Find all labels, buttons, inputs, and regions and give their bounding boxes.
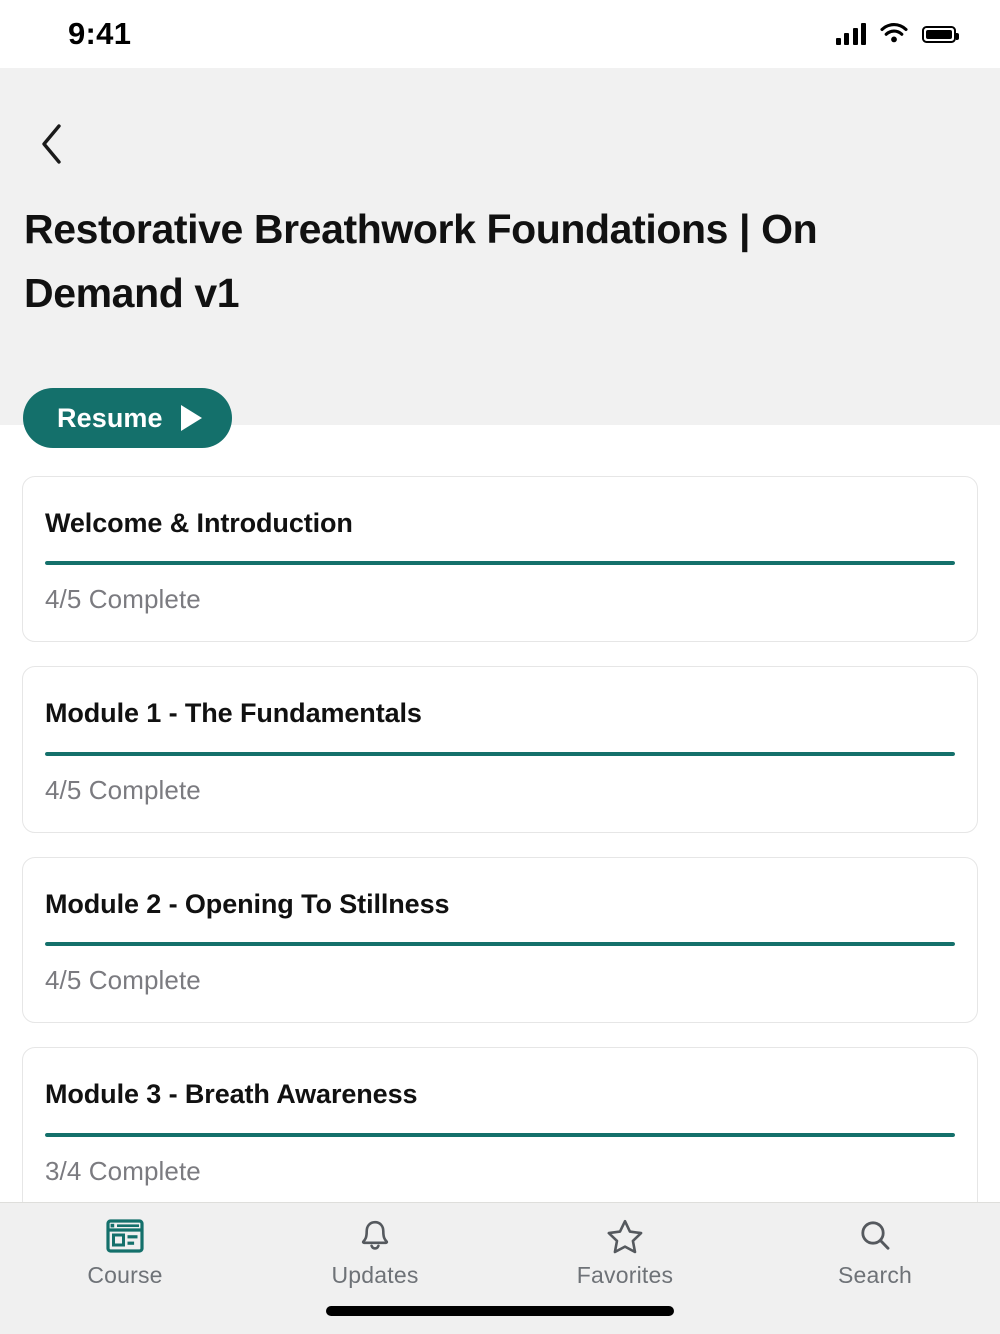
module-card[interactable]: Module 2 - Opening To Stillness 4/5 Comp… bbox=[22, 857, 978, 1023]
tab-favorites[interactable]: Favorites bbox=[500, 1203, 750, 1293]
module-title: Module 2 - Opening To Stillness bbox=[45, 888, 955, 920]
status-bar-clock: 9:41 bbox=[68, 16, 131, 52]
module-progress-fill bbox=[45, 1133, 955, 1137]
cellular-signal-icon bbox=[836, 23, 867, 45]
course-header: Restorative Breathwork Foundations | On … bbox=[0, 68, 1000, 425]
module-card[interactable]: Module 3 - Breath Awareness 3/4 Complete bbox=[22, 1047, 978, 1213]
back-button[interactable] bbox=[24, 116, 80, 172]
star-outline-icon bbox=[606, 1217, 644, 1255]
module-card[interactable]: Module 1 - The Fundamentals 4/5 Complete bbox=[22, 666, 978, 832]
bell-icon bbox=[357, 1217, 393, 1255]
module-title: Module 3 - Breath Awareness bbox=[45, 1078, 955, 1110]
module-title: Welcome & Introduction bbox=[45, 507, 955, 539]
play-triangle-icon bbox=[181, 405, 202, 431]
module-progress-bar bbox=[45, 942, 955, 946]
tab-course[interactable]: Course bbox=[0, 1203, 250, 1293]
status-bar-icons bbox=[836, 21, 957, 48]
module-progress-bar bbox=[45, 752, 955, 756]
status-bar: 9:41 bbox=[0, 0, 1000, 68]
tab-updates-label: Updates bbox=[331, 1262, 418, 1289]
page-title: Restorative Breathwork Foundations | On … bbox=[24, 198, 874, 325]
module-progress-label: 3/4 Complete bbox=[45, 1156, 955, 1187]
resume-button[interactable]: Resume bbox=[23, 388, 232, 448]
module-progress-label: 4/5 Complete bbox=[45, 775, 955, 806]
wifi-icon bbox=[879, 21, 909, 48]
tab-favorites-label: Favorites bbox=[577, 1262, 673, 1289]
app-screen: 9:41 Restorative Breathwork Foundations … bbox=[0, 0, 1000, 1334]
tab-course-label: Course bbox=[87, 1262, 162, 1289]
resume-button-label: Resume bbox=[57, 403, 163, 434]
bottom-tab-bar: Course Updates Favorites bbox=[0, 1202, 1000, 1334]
module-progress-fill bbox=[45, 561, 955, 565]
module-progress-fill bbox=[45, 752, 955, 756]
module-title: Module 1 - The Fundamentals bbox=[45, 697, 955, 729]
module-card[interactable]: Welcome & Introduction 4/5 Complete bbox=[22, 476, 978, 642]
module-progress-bar bbox=[45, 561, 955, 565]
tab-search-label: Search bbox=[838, 1262, 912, 1289]
module-progress-label: 4/5 Complete bbox=[45, 965, 955, 996]
tab-updates[interactable]: Updates bbox=[250, 1203, 500, 1293]
magnifier-icon bbox=[857, 1217, 893, 1255]
course-layout-icon bbox=[106, 1217, 144, 1255]
module-list: Welcome & Introduction 4/5 Complete Modu… bbox=[0, 476, 1000, 1214]
chevron-left-icon bbox=[39, 123, 65, 165]
module-progress-fill bbox=[45, 942, 955, 946]
module-progress-bar bbox=[45, 1133, 955, 1137]
module-progress-label: 4/5 Complete bbox=[45, 584, 955, 615]
battery-full-icon bbox=[922, 26, 956, 43]
home-indicator bbox=[326, 1306, 674, 1316]
tab-search[interactable]: Search bbox=[750, 1203, 1000, 1293]
